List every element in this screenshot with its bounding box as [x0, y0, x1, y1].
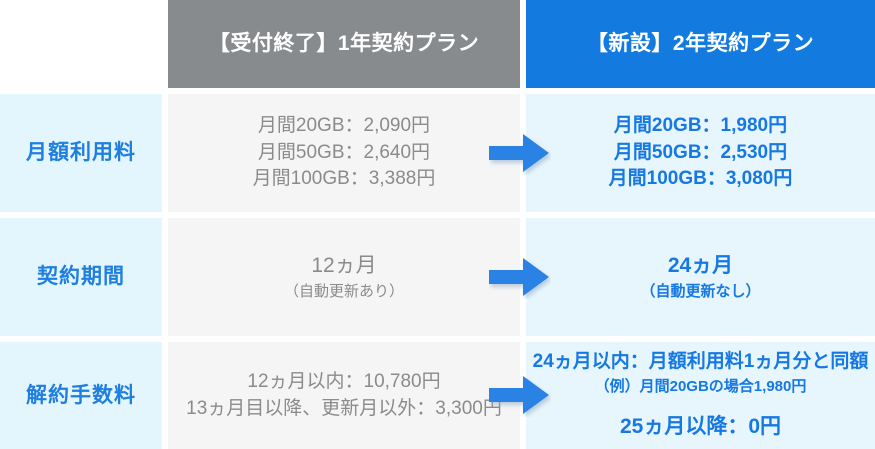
old-contract-period-sub: （自動更新あり）: [284, 281, 404, 302]
old-contract-period-main: 12ヵ月: [311, 251, 376, 281]
row-label-text: 月額利用料: [26, 138, 136, 168]
row-label-text: 解約手数料: [26, 381, 136, 411]
new-cancellation-fee-line-1: 24ヵ月以内：月額利用料1ヵ月分と同額: [533, 349, 869, 376]
cell-new-cancellation-fee: 24ヵ月以内：月額利用料1ヵ月分と同額 （例）月間20GBの場合1,980円 2…: [526, 342, 875, 449]
row-label-monthly-fee: 月額利用料: [0, 94, 162, 212]
new-monthly-fee-line-1: 月間20GB：1,980円: [614, 113, 787, 140]
header-new-plan-label: 【新設】2年契約プラン: [587, 29, 814, 59]
old-monthly-fee-line-3: 月間100GB：3,388円: [253, 166, 436, 193]
plan-comparison-table: 【受付終了】1年契約プラン 【新設】2年契約プラン 月額利用料 月間20GB：2…: [0, 0, 875, 449]
header-new-plan: 【新設】2年契約プラン: [526, 0, 875, 88]
old-cancellation-fee-line-2: 13ヵ月目以降、更新月以外：3,300円: [186, 396, 502, 423]
row-label-text: 契約期間: [37, 262, 125, 292]
old-monthly-fee-line-2: 月間50GB：2,640円: [258, 140, 430, 167]
new-cancellation-fee-line-2: （例）月間20GBの場合1,980円: [595, 376, 807, 397]
old-monthly-fee-line-1: 月間20GB：2,090円: [258, 113, 430, 140]
new-contract-period-sub: （自動更新なし）: [640, 281, 760, 302]
new-contract-period-main: 24ヵ月: [668, 251, 733, 281]
header-corner-blank: [0, 0, 162, 88]
new-monthly-fee-line-3: 月間100GB：3,080円: [609, 166, 793, 193]
cell-old-contract-period: 12ヵ月 （自動更新あり）: [168, 218, 520, 336]
new-monthly-fee-line-2: 月間50GB：2,530円: [614, 140, 787, 167]
cell-new-contract-period: 24ヵ月 （自動更新なし）: [526, 218, 875, 336]
old-cancellation-fee-line-1: 12ヵ月以内：10,780円: [247, 369, 440, 396]
header-old-plan-label: 【受付終了】1年契約プラン: [209, 29, 479, 59]
cell-new-monthly-fee: 月間20GB：1,980円 月間50GB：2,530円 月間100GB：3,08…: [526, 94, 875, 212]
header-old-plan: 【受付終了】1年契約プラン: [168, 0, 520, 88]
cell-old-cancellation-fee: 12ヵ月以内：10,780円 13ヵ月目以降、更新月以外：3,300円: [168, 342, 520, 449]
row-label-cancellation-fee: 解約手数料: [0, 342, 162, 449]
row-label-contract-period: 契約期間: [0, 218, 162, 336]
new-cancellation-fee-line-3: 25ヵ月以降：0円: [620, 412, 781, 442]
cell-old-monthly-fee: 月間20GB：2,090円 月間50GB：2,640円 月間100GB：3,38…: [168, 94, 520, 212]
